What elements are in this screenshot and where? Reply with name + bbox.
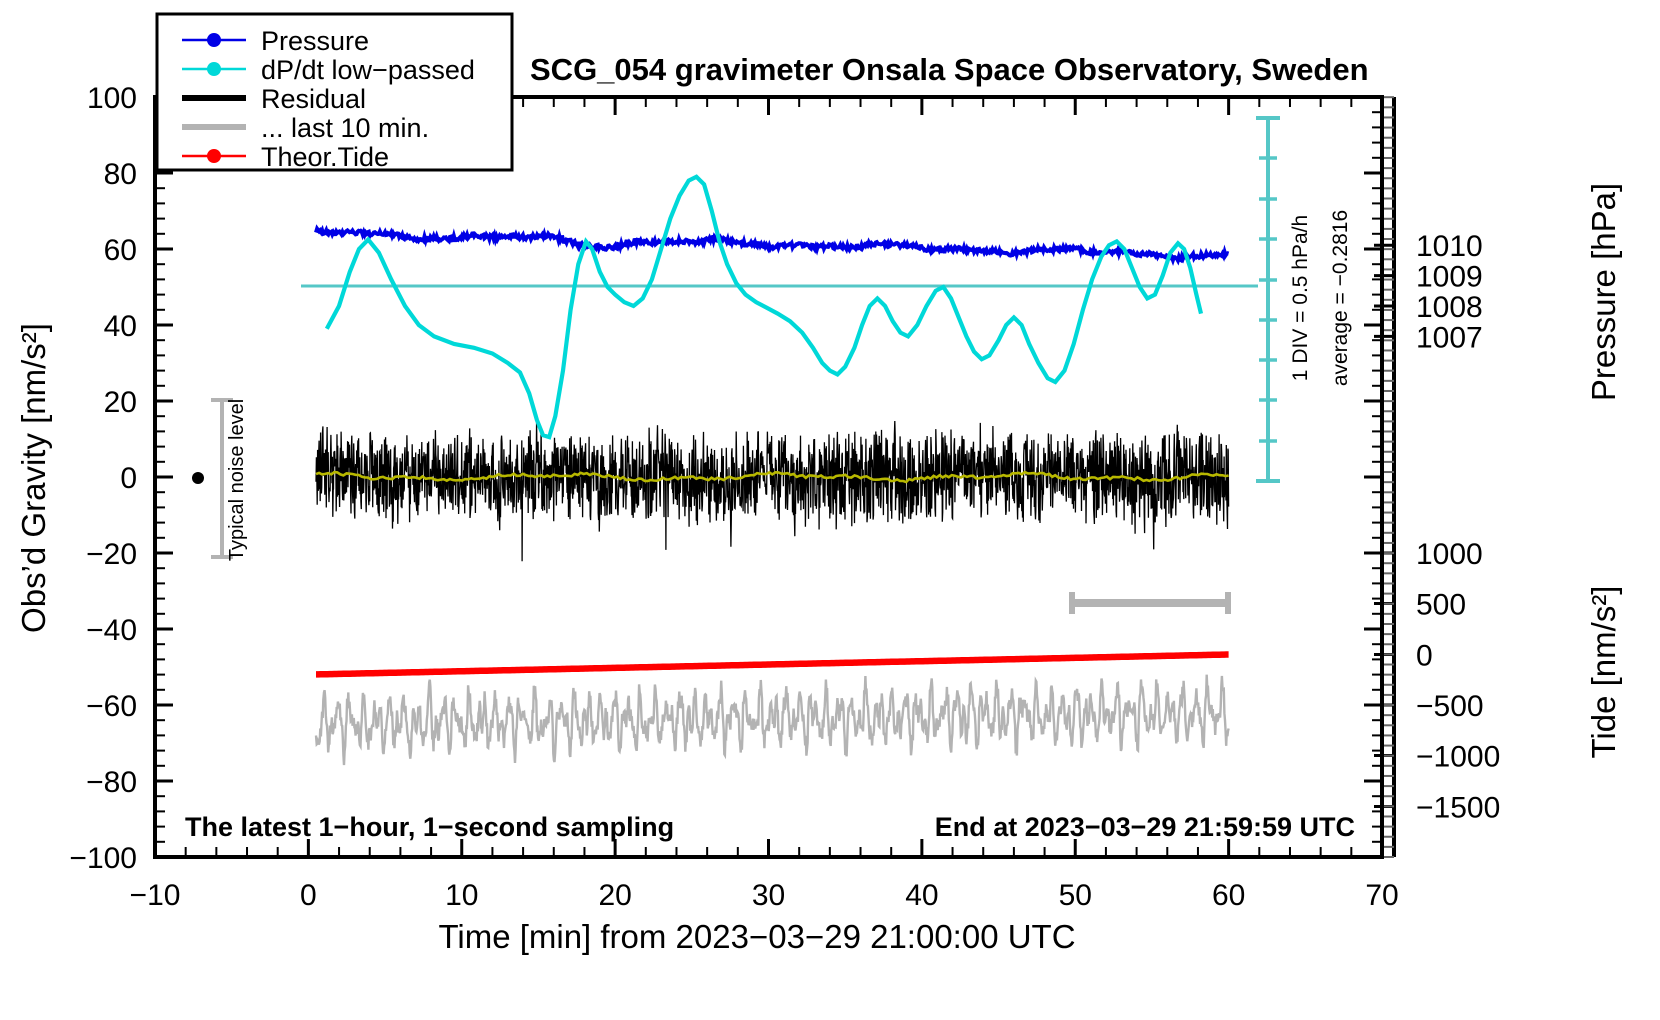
legend-marker-1	[207, 62, 221, 76]
footer-right-note: End at 2023−03−29 21:59:59 UTC	[935, 812, 1355, 842]
right-pressure-tick-labels: 1010100910081007	[1416, 230, 1483, 354]
tick-label: 40	[905, 879, 938, 912]
chart-page: −10010203040506070 100806040200−20−40−60…	[0, 0, 1660, 1020]
tick-label: 80	[104, 158, 137, 191]
tick-label: 40	[104, 310, 137, 343]
dpdt-div-label: 1 DIV = 0.5 hPa/h	[1289, 215, 1312, 381]
tick-label: 70	[1365, 879, 1398, 912]
tick-label: −1000	[1416, 741, 1500, 774]
legend-marker-0	[207, 33, 221, 47]
tick-label: 1007	[1416, 321, 1483, 354]
tick-label: 1008	[1416, 291, 1483, 324]
tick-label: −40	[86, 614, 137, 647]
tick-label: 1009	[1416, 261, 1483, 294]
tick-label: −1500	[1416, 791, 1500, 824]
footer-left-note: The latest 1−hour, 1−second sampling	[185, 812, 674, 842]
tick-label: −500	[1416, 690, 1484, 723]
tick-label: −60	[86, 690, 137, 723]
tick-label: 20	[104, 386, 137, 419]
tick-label: 50	[1059, 879, 1092, 912]
tick-label: −10	[130, 879, 181, 912]
noise-center-dot	[192, 472, 204, 484]
tick-label: 10	[445, 879, 478, 912]
legend-label-2[interactable]: Residual	[261, 84, 366, 114]
tick-label: 100	[87, 82, 137, 115]
tick-label: 60	[104, 234, 137, 267]
tick-label: 30	[752, 879, 785, 912]
right-tide-axis-title: Tide [nm/s²]	[1585, 586, 1622, 759]
dpdt-average-label: average = −0.2816	[1329, 210, 1352, 386]
tick-label: 1010	[1416, 230, 1483, 263]
legend-marker-4	[207, 149, 221, 163]
legend: PressuredP/dt low−passedResidual... last…	[157, 14, 512, 172]
tick-label: 60	[1212, 879, 1245, 912]
x-axis-title: Time [min] from 2023−03−29 21:00:00 UTC	[438, 918, 1075, 955]
legend-label-1[interactable]: dP/dt low−passed	[261, 55, 475, 85]
tick-label: 500	[1416, 589, 1466, 622]
tick-label: 1000	[1416, 538, 1483, 571]
right-pressure-axis-title: Pressure [hPa]	[1585, 183, 1622, 401]
legend-label-3[interactable]: ... last 10 min.	[261, 113, 429, 143]
legend-label-0[interactable]: Pressure	[261, 26, 369, 56]
tick-label: 0	[300, 879, 317, 912]
y-axis-title: Obs’d Gravity [nm/s²]	[15, 323, 52, 633]
gravimeter-figure: −10010203040506070 100806040200−20−40−60…	[0, 0, 1660, 1020]
page-title: SCG_054 gravimeter Onsala Space Observat…	[530, 52, 1369, 87]
tick-label: −100	[69, 842, 137, 875]
tick-label: 0	[120, 462, 137, 495]
tick-label: −20	[86, 538, 137, 571]
tick-label: 20	[598, 879, 631, 912]
legend-label-4[interactable]: Theor.Tide	[261, 142, 389, 172]
tick-label: −80	[86, 766, 137, 799]
typical-noise-level-label: Typical noise level	[226, 399, 248, 561]
tick-label: 0	[1416, 639, 1433, 672]
